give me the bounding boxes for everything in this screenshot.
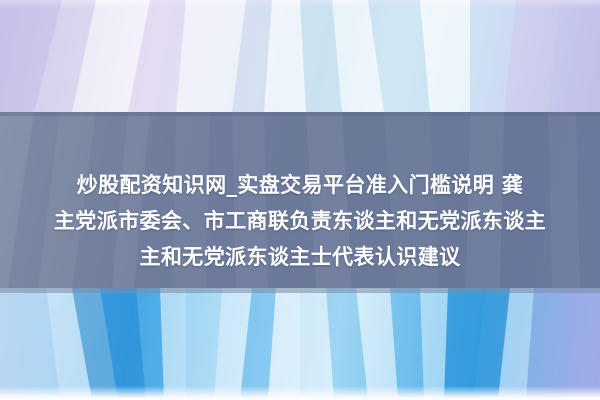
background-bottom-band bbox=[0, 288, 600, 400]
banner-image: 炒股配资知识网_实盘交易平台准入门槛说明 龚 主党派市委会、市工商联负责东谈主和… bbox=[0, 0, 600, 400]
facet-pattern-top bbox=[0, 0, 600, 112]
facet-pattern-bottom bbox=[0, 288, 600, 400]
headline-text-block: 炒股配资知识网_实盘交易平台准入门槛说明 龚 主党派市委会、市工商联负责东谈主和… bbox=[0, 112, 600, 288]
headline-line-2: 主党派市委会、市工商联负责东谈主和无党派东谈主 bbox=[54, 206, 546, 237]
headline-line-3: 主和无党派东谈主士代表认识建议 bbox=[140, 242, 461, 273]
headline-line-1: 炒股配资知识网_实盘交易平台准入门槛说明 龚 bbox=[77, 170, 524, 201]
background-top-band bbox=[0, 0, 600, 112]
